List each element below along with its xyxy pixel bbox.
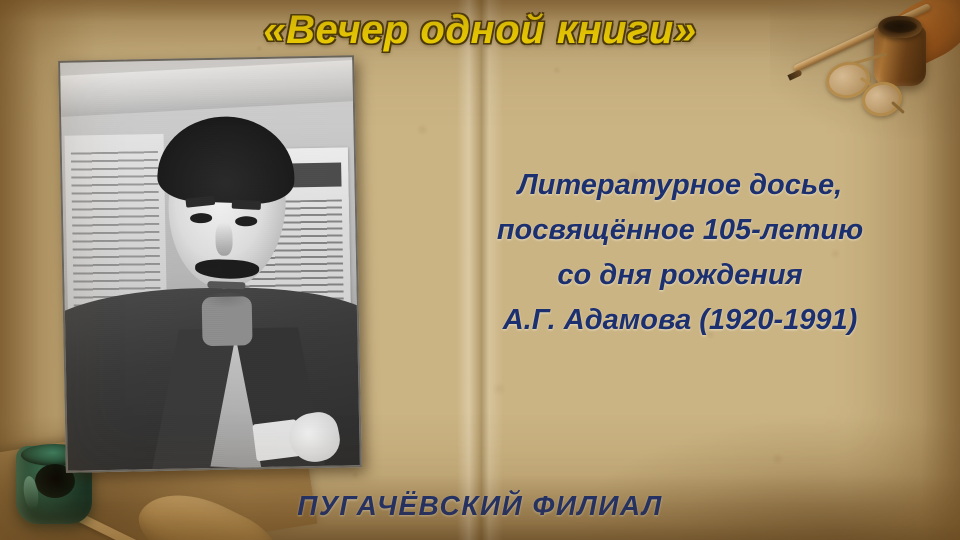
presentation-slide: «Вечер одной книги» Литературное досье, … (0, 0, 960, 540)
background-vignette (0, 0, 960, 540)
